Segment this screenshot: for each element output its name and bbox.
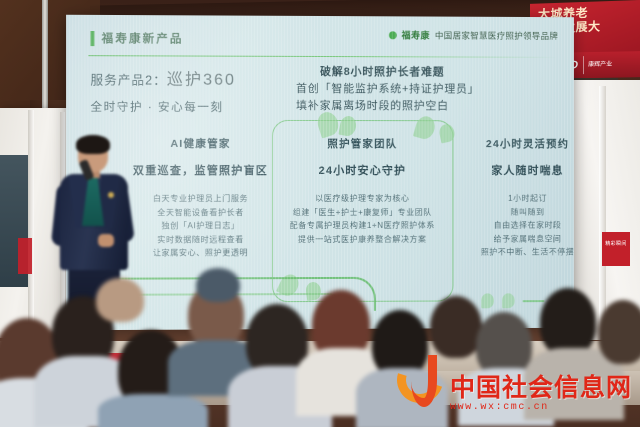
watermark: 中国社会信息网 www.wx:cmc.cn [395,355,632,413]
column-3-body-line: 照护不中断、生活不停摆 [453,245,574,259]
header-divider [88,55,558,58]
column-1-body-line: 全天智能设备看护长者 [125,206,276,220]
column-3-heading-2: 家人随时喘息 [453,162,574,178]
brand-lockup: 福寿康 中国居家智慧医疗照护领导品牌 [389,28,558,42]
brand-tagline: 中国居家智慧医疗照护领导品牌 [435,29,558,41]
slide-header-title: 福寿康新产品 [102,30,184,46]
column-1-heading-2: 双重巡查，监管照护盲区 [125,162,276,178]
product-label: 服务产品2： [90,73,166,87]
column-2-heading-1: 照护管家团队 [280,136,445,151]
watermark-text: 中国社会信息网 www.wx:cmc.cn [450,375,632,413]
column-2-body-line: 配备专属护理员构建1+N医疗照护体系 [280,219,445,233]
slide-surface: 福寿康新产品 福寿康 中国居家智慧医疗照护领导品牌 服务产品2：巡护360 全时… [66,15,574,330]
slide-column-3: 24小时灵活预约 家人随时喘息 1小时起订 随叫随到 自由选择在家时段 给予家属… [453,136,574,259]
aid-divider [583,56,584,74]
booth-tag-right: 精彩瞬间 [602,232,630,266]
booth-edge-left-1 [28,110,34,338]
slide-column-2: 照护管家团队 24小时安心守护 以医疗级护理专家为核心 组建「医生+护士+康复师… [280,136,445,246]
watermark-flame-inner [411,355,437,407]
speaker-hair [76,135,110,154]
column-2-body-line: 以医疗级护理专家为核心 [280,192,445,206]
column-1-body: 白天专业护理员上门服务 全天智能设备看护长者 独创「AI护理日志」 实时数据随时… [125,192,276,260]
audience-head [196,268,240,302]
audience-head [540,288,596,356]
light-pole [42,0,48,112]
value-prop-line-1: 破解8小时照护长者难题 [296,64,544,82]
value-prop-line-2: 首创「智能监护系统+持证护理员」 [296,81,544,99]
column-3-body: 1小时起订 随叫随到 自由选择在家时段 给予家属喘息空间 照护不中断、生活不停摆 [453,192,574,259]
column-2-heading-2: 24小时安心守护 [280,162,445,178]
product-name: 巡护360 [167,72,236,89]
leaf-icon [481,293,494,308]
audience-head [430,296,482,358]
brand-name: 福寿康 [402,28,430,41]
aid-text-cn: 康辉产业 [588,61,612,68]
slide-title-right: 破解8小时照护长者难题 首创「智能监护系统+持证护理员」 填补家属离场时段的照护… [296,64,544,115]
column-1-heading-1: AI健康管家 [125,136,276,151]
column-3-body-line: 自由选择在家时段 [453,219,574,233]
column-3-body-line: 随叫随到 [453,205,574,219]
column-2-body-line: 提供一站式医护康养整合解决方案 [280,232,445,246]
slide-title-left: 服务产品2：巡护360 全时守护 · 安心每一刻 [90,65,282,115]
watermark-site-name: 中国社会信息网 [450,375,632,402]
watermark-url: www.wx:cmc.cn [450,402,549,413]
booth-tag-left [18,238,32,274]
leaf-icon [502,293,515,308]
column-1-body-line: 实时数据随时远程查看 [125,233,276,247]
slide-column-1: AI健康管家 双重巡查，监管照护盲区 白天专业护理员上门服务 全天智能设备看护长… [125,136,276,260]
value-prop-line-3: 填补家属离场时段的照护空白 [296,98,544,115]
screenshot-root: 大城养老 创新发展大 W2C88 A.I.D 康辉产业 精彩瞬间 福寿康新产品 … [0,0,640,427]
speaker-badge [108,192,114,198]
booth-post-right [599,86,606,340]
product-slogan: 全时守护 · 安心每一刻 [90,98,282,114]
column-1-body-line: 让家属安心、照护更透明 [125,246,276,260]
watermark-logo-icon [395,355,447,413]
audience-head [96,278,144,322]
column-1-body-line: 白天专业护理员上门服务 [125,192,276,206]
slide-dash [523,300,545,302]
projection-screen: 福寿康新产品 福寿康 中国居家智慧医疗照护领导品牌 服务产品2：巡护360 全时… [66,15,574,330]
column-1-body-line: 独创「AI护理日志」 [125,219,276,233]
audience-shoulder [98,394,208,427]
column-2-body: 以医疗级护理专家为核心 组建「医生+护士+康复师」专业团队 配备专属护理员构建1… [280,192,445,246]
column-3-body-line: 1小时起订 [453,192,574,206]
column-2-body-line: 组建「医生+护士+康复师」专业团队 [280,205,445,219]
booth-tag-right-label: 精彩瞬间 [602,232,630,248]
product-line: 服务产品2：巡护360 [90,65,282,90]
header-accent-bar [90,30,94,45]
slide-leaf-row [481,293,544,308]
speaker-hand-right [98,234,114,247]
column-3-heading-1: 24小时灵活预约 [453,136,574,151]
brand-leaf-icon [389,31,397,39]
column-3-body-line: 给予家属喘息空间 [453,232,574,246]
